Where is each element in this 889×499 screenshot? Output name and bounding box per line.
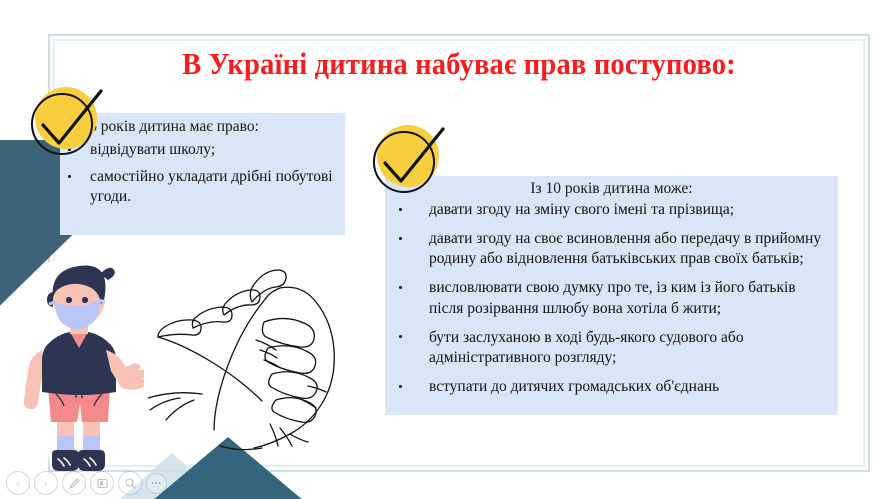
search-icon xyxy=(124,477,137,490)
list-item-text: відвідувати школу; xyxy=(90,141,215,158)
bullet-dot-icon xyxy=(399,237,402,240)
list-item-text: давати згоду на зміну свого імені та прі… xyxy=(429,201,734,218)
bullet-dot-icon xyxy=(399,335,402,338)
finger-2 xyxy=(192,307,232,328)
clasped-hands-illustration xyxy=(148,252,398,482)
checkmark-icon xyxy=(31,85,105,159)
chevron-right-icon: › xyxy=(44,477,48,489)
list-item: бути заслуханою в ході будь-якого судово… xyxy=(399,328,828,368)
child-hand-edge xyxy=(158,337,262,401)
checkmark-icon xyxy=(373,123,447,197)
presentation-icon xyxy=(96,477,109,490)
list-item-text: давати згоду на своє всиновлення або пер… xyxy=(429,230,821,267)
list-item-text: висловлювати свою думку про те, із ким і… xyxy=(429,279,796,316)
knuckle-creases xyxy=(256,340,279,367)
more-options-button[interactable]: ••• xyxy=(146,473,167,494)
ellipsis-icon: ••• xyxy=(152,479,162,488)
list-item-text: самостійно укладати дрібні побутові угод… xyxy=(90,168,333,205)
child-left-eye xyxy=(66,297,72,303)
right-info-box: Із 10 років дитина може: давати згоду на… xyxy=(385,176,838,415)
list-item: давати згоду на зміну свого імені та прі… xyxy=(399,200,828,220)
child-palm-line-2 xyxy=(150,398,180,410)
finger-1 xyxy=(158,320,201,337)
list-item: самостійно укладати дрібні побутові угод… xyxy=(68,167,339,207)
checkmark-badge-2 xyxy=(373,123,447,197)
checkmark-badge-1 xyxy=(31,85,105,159)
child-palm-line-1 xyxy=(148,393,202,398)
child-left-shoe xyxy=(52,450,79,471)
list-item: відвідувати школу; xyxy=(68,140,339,160)
page-title: В Україні дитина набуває прав поступово: xyxy=(81,46,837,82)
finger-3 xyxy=(223,290,260,315)
child-palm-line-3 xyxy=(166,400,194,420)
finger-4 xyxy=(250,270,286,302)
list-item-text: вступати до дитячих громадських об'єднан… xyxy=(429,378,719,395)
child-right-shoe xyxy=(78,450,105,471)
presentation-view-button[interactable] xyxy=(90,471,114,495)
adult-hand-outline xyxy=(254,287,334,448)
child-figure xyxy=(20,263,144,471)
adult-finger-3 xyxy=(269,372,317,399)
list-item-text: бути заслуханою в ході будь-якого судово… xyxy=(429,329,744,366)
adult-finger-2 xyxy=(265,346,316,374)
bullet-dot-icon xyxy=(399,286,402,289)
adult-thumb-edge xyxy=(214,298,266,430)
bullet-dot-icon xyxy=(399,385,402,388)
right-box-heading: Із 10 років дитина може: xyxy=(385,180,838,198)
list-item: давати згоду на своє всиновлення або пер… xyxy=(399,229,828,269)
bullet-dot-icon xyxy=(68,175,71,178)
annotate-button[interactable] xyxy=(62,471,86,495)
child-right-eye xyxy=(82,297,88,303)
adult-finger-1 xyxy=(262,318,314,347)
previous-slide-button[interactable]: ‹ xyxy=(6,471,30,495)
zoom-button[interactable] xyxy=(118,471,142,495)
chevron-left-icon: ‹ xyxy=(16,477,20,489)
slide-canvas: В Україні дитина набуває прав поступово:… xyxy=(0,0,889,499)
list-item: вступати до дитячих громадських об'єднан… xyxy=(399,377,828,397)
right-box-bullet-list: давати згоду на зміну свого імені та прі… xyxy=(385,200,838,397)
next-slide-button[interactable]: › xyxy=(34,471,58,495)
slide-toolbar[interactable]: ‹ › ••• xyxy=(6,471,167,495)
child-illustration xyxy=(14,258,144,483)
pencil-icon xyxy=(68,477,81,490)
bullet-dot-icon xyxy=(399,208,402,211)
list-item: висловлювати свою думку про те, із ким і… xyxy=(399,278,828,318)
palm-crease-adult xyxy=(290,434,308,442)
